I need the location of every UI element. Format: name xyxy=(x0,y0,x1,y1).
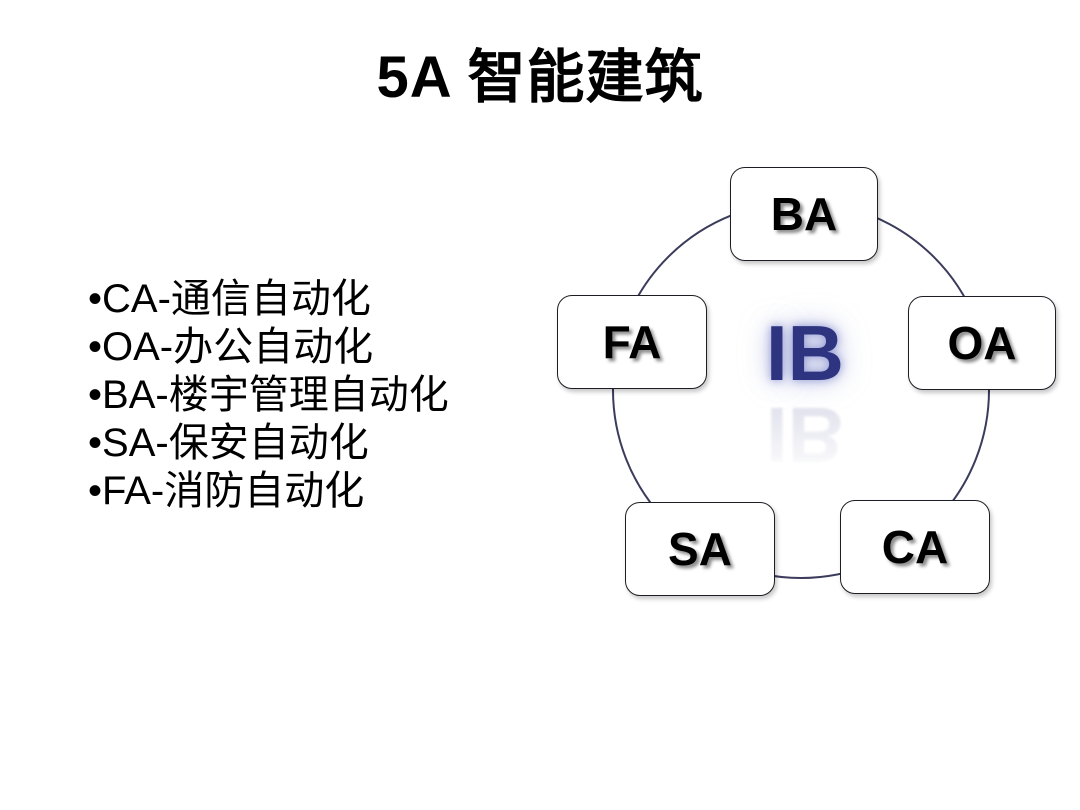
node-ca[interactable]: CA xyxy=(840,500,990,594)
node-fa[interactable]: FA xyxy=(557,295,707,389)
node-oa-label: OA xyxy=(948,320,1017,366)
center-label-reflection: IB xyxy=(745,392,865,478)
list-item: •SA-保安自动化 xyxy=(88,419,528,467)
list-item-label: 办公自动化 xyxy=(173,324,373,369)
list-item: •OA-办公自动化 xyxy=(88,323,528,371)
list-item-code: FA- xyxy=(102,469,164,513)
list-item-label: 保安自动化 xyxy=(169,420,369,465)
ib-cycle-diagram: IB IB BA OA CA SA FA xyxy=(540,150,1070,610)
bullet-dot-icon: • xyxy=(88,421,102,465)
node-ba-label: BA xyxy=(771,191,837,237)
bullet-list: •CA-通信自动化 •OA-办公自动化 •BA-楼宇管理自动化 •SA-保安自动… xyxy=(88,275,528,515)
list-item-code: OA- xyxy=(102,325,173,369)
node-fa-label: FA xyxy=(603,319,662,365)
list-item: •BA-楼宇管理自动化 xyxy=(88,371,528,419)
node-sa-label: SA xyxy=(668,526,732,572)
center-label: IB xyxy=(745,310,865,396)
list-item: •FA-消防自动化 xyxy=(88,467,528,515)
node-sa[interactable]: SA xyxy=(625,502,775,596)
node-ba[interactable]: BA xyxy=(730,167,878,261)
bullet-dot-icon: • xyxy=(88,277,102,321)
list-item-code: SA- xyxy=(102,421,169,465)
node-ca-label: CA xyxy=(882,524,948,570)
list-item-code: BA- xyxy=(102,373,169,417)
list-item-label: 楼宇管理自动化 xyxy=(169,372,449,417)
bullet-dot-icon: • xyxy=(88,325,102,369)
list-item: •CA-通信自动化 xyxy=(88,275,528,323)
page-title: 5A 智能建筑 xyxy=(0,46,1080,110)
list-item-label: 消防自动化 xyxy=(164,468,364,513)
bullet-dot-icon: • xyxy=(88,373,102,417)
bullet-dot-icon: • xyxy=(88,469,102,513)
list-item-code: CA- xyxy=(102,277,171,321)
center-label-group: IB IB xyxy=(745,310,865,480)
node-oa[interactable]: OA xyxy=(908,296,1056,390)
list-item-label: 通信自动化 xyxy=(171,276,371,321)
